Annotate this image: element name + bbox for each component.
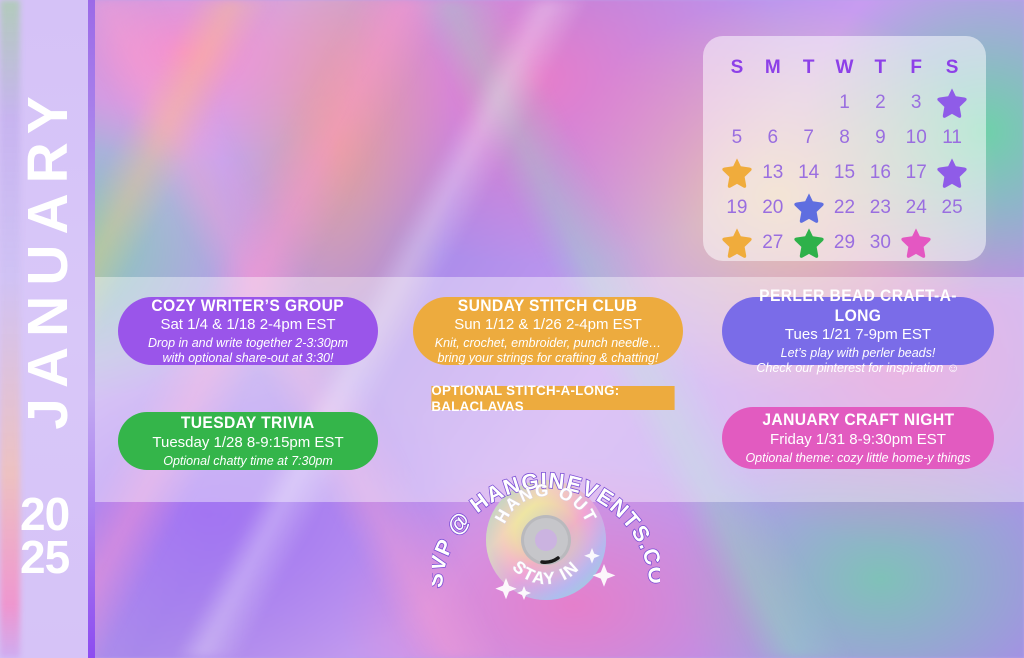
calendar-day-30[interactable]: 30 <box>870 232 891 254</box>
calendar-day-14[interactable]: 14 <box>798 162 819 184</box>
calendar-star-icon-12[interactable] <box>721 157 753 189</box>
event-note: Knit, crochet, embroider, punch needle…b… <box>435 336 662 366</box>
calendar-day-27[interactable]: 27 <box>762 232 783 254</box>
calendar-star-icon-18[interactable] <box>936 157 968 189</box>
event-note: Drop in and write together 2-3:30pmwith … <box>148 336 348 366</box>
event-card-perler-bead-craft-a-long[interactable]: PERLER BEAD CRAFT-A-LONG Tues 1/21 7-9pm… <box>722 297 994 365</box>
calendar-dow-0: S <box>731 57 744 79</box>
event-when: Friday 1/31 8-9:30pm EST <box>770 431 946 450</box>
calendar-dow-4: T <box>875 57 887 79</box>
rsvp-cd-badge[interactable]: RSVP @ HANGINEVENTS.COM HANG OUT STAY IN <box>432 466 660 602</box>
event-when: Tues 1/21 7-9pm EST <box>785 326 931 345</box>
calendar-day-15[interactable]: 15 <box>834 162 855 184</box>
calendar-dow-5: F <box>910 57 922 79</box>
event-note: Optional theme: cozy little home-y thing… <box>745 451 970 466</box>
calendar-day-13[interactable]: 13 <box>762 162 783 184</box>
event-note: Let’s play with perler beads!Check our p… <box>756 346 959 376</box>
event-note: Optional chatty time at 7:30pm <box>163 454 333 469</box>
calendar-card: SMTWTFS123567891011131415161719202223242… <box>703 36 986 261</box>
calendar-day-22[interactable]: 22 <box>834 197 855 219</box>
calendar-day-17[interactable]: 17 <box>906 162 927 184</box>
event-title: JANUARY CRAFT NIGHT <box>762 410 954 430</box>
calendar-day-29[interactable]: 29 <box>834 232 855 254</box>
stitch-a-long-banner: OPTIONAL STITCH-A-LONG: BALACLAVAS <box>431 386 674 410</box>
event-card-cozy-writers-group[interactable]: COZY WRITER’S GROUP Sat 1/4 & 1/18 2-4pm… <box>118 297 378 365</box>
calendar-day-19[interactable]: 19 <box>726 197 747 219</box>
year-top: 20 <box>20 493 69 535</box>
calendar-dow-3: W <box>836 57 854 79</box>
calendar-grid: SMTWTFS123567891011131415161719202223242… <box>719 50 970 249</box>
year-label: 20 25 <box>20 493 69 578</box>
event-when: Sun 1/12 & 1/26 2-4pm EST <box>454 316 642 335</box>
event-title: COZY WRITER’S GROUP <box>152 296 345 316</box>
calendar-day-10[interactable]: 10 <box>906 127 927 149</box>
calendar-day-5[interactable]: 5 <box>732 127 743 149</box>
calendar-star-icon-4[interactable] <box>936 87 968 119</box>
month-sidebar: JANUARY 20 25 <box>0 0 95 658</box>
event-title: PERLER BEAD CRAFT-A-LONG <box>746 286 970 325</box>
event-title: TUESDAY TRIVIA <box>181 413 315 433</box>
event-when: Tuesday 1/28 8-9:15pm EST <box>152 434 343 453</box>
calendar-dow-2: T <box>803 57 815 79</box>
event-when: Sat 1/4 & 1/18 2-4pm EST <box>160 316 335 335</box>
calendar-day-2[interactable]: 2 <box>875 92 886 114</box>
calendar-day-6[interactable]: 6 <box>767 127 778 149</box>
calendar-star-icon-28[interactable] <box>793 227 825 259</box>
calendar-dow-1: M <box>765 57 781 79</box>
year-bottom: 25 <box>20 536 69 578</box>
calendar-day-20[interactable]: 20 <box>762 197 783 219</box>
calendar-day-1[interactable]: 1 <box>839 92 850 114</box>
calendar-day-24[interactable]: 24 <box>906 197 927 219</box>
calendar-dow-6: S <box>946 57 959 79</box>
event-card-tuesday-trivia[interactable]: TUESDAY TRIVIA Tuesday 1/28 8-9:15pm EST… <box>118 412 378 470</box>
calendar-day-25[interactable]: 25 <box>942 197 963 219</box>
calendar-day-7[interactable]: 7 <box>803 127 814 149</box>
calendar-star-icon-21[interactable] <box>793 192 825 224</box>
calendar-star-icon-31[interactable] <box>900 227 932 259</box>
calendar-day-9[interactable]: 9 <box>875 127 886 149</box>
poster-canvas: JANUARY 20 25 SMTWTFS1235678910111314151… <box>0 0 1024 658</box>
event-card-january-craft-night[interactable]: JANUARY CRAFT NIGHT Friday 1/31 8-9:30pm… <box>722 407 994 469</box>
calendar-star-icon-26[interactable] <box>721 227 753 259</box>
calendar-day-23[interactable]: 23 <box>870 197 891 219</box>
calendar-day-8[interactable]: 8 <box>839 127 850 149</box>
event-card-sunday-stitch-club[interactable]: SUNDAY STITCH CLUB Sun 1/12 & 1/26 2-4pm… <box>413 297 683 365</box>
calendar-day-3[interactable]: 3 <box>911 92 922 114</box>
month-label: JANUARY <box>15 86 81 429</box>
calendar-day-16[interactable]: 16 <box>870 162 891 184</box>
event-title: SUNDAY STITCH CLUB <box>458 296 638 316</box>
calendar-day-11[interactable]: 11 <box>942 127 962 149</box>
